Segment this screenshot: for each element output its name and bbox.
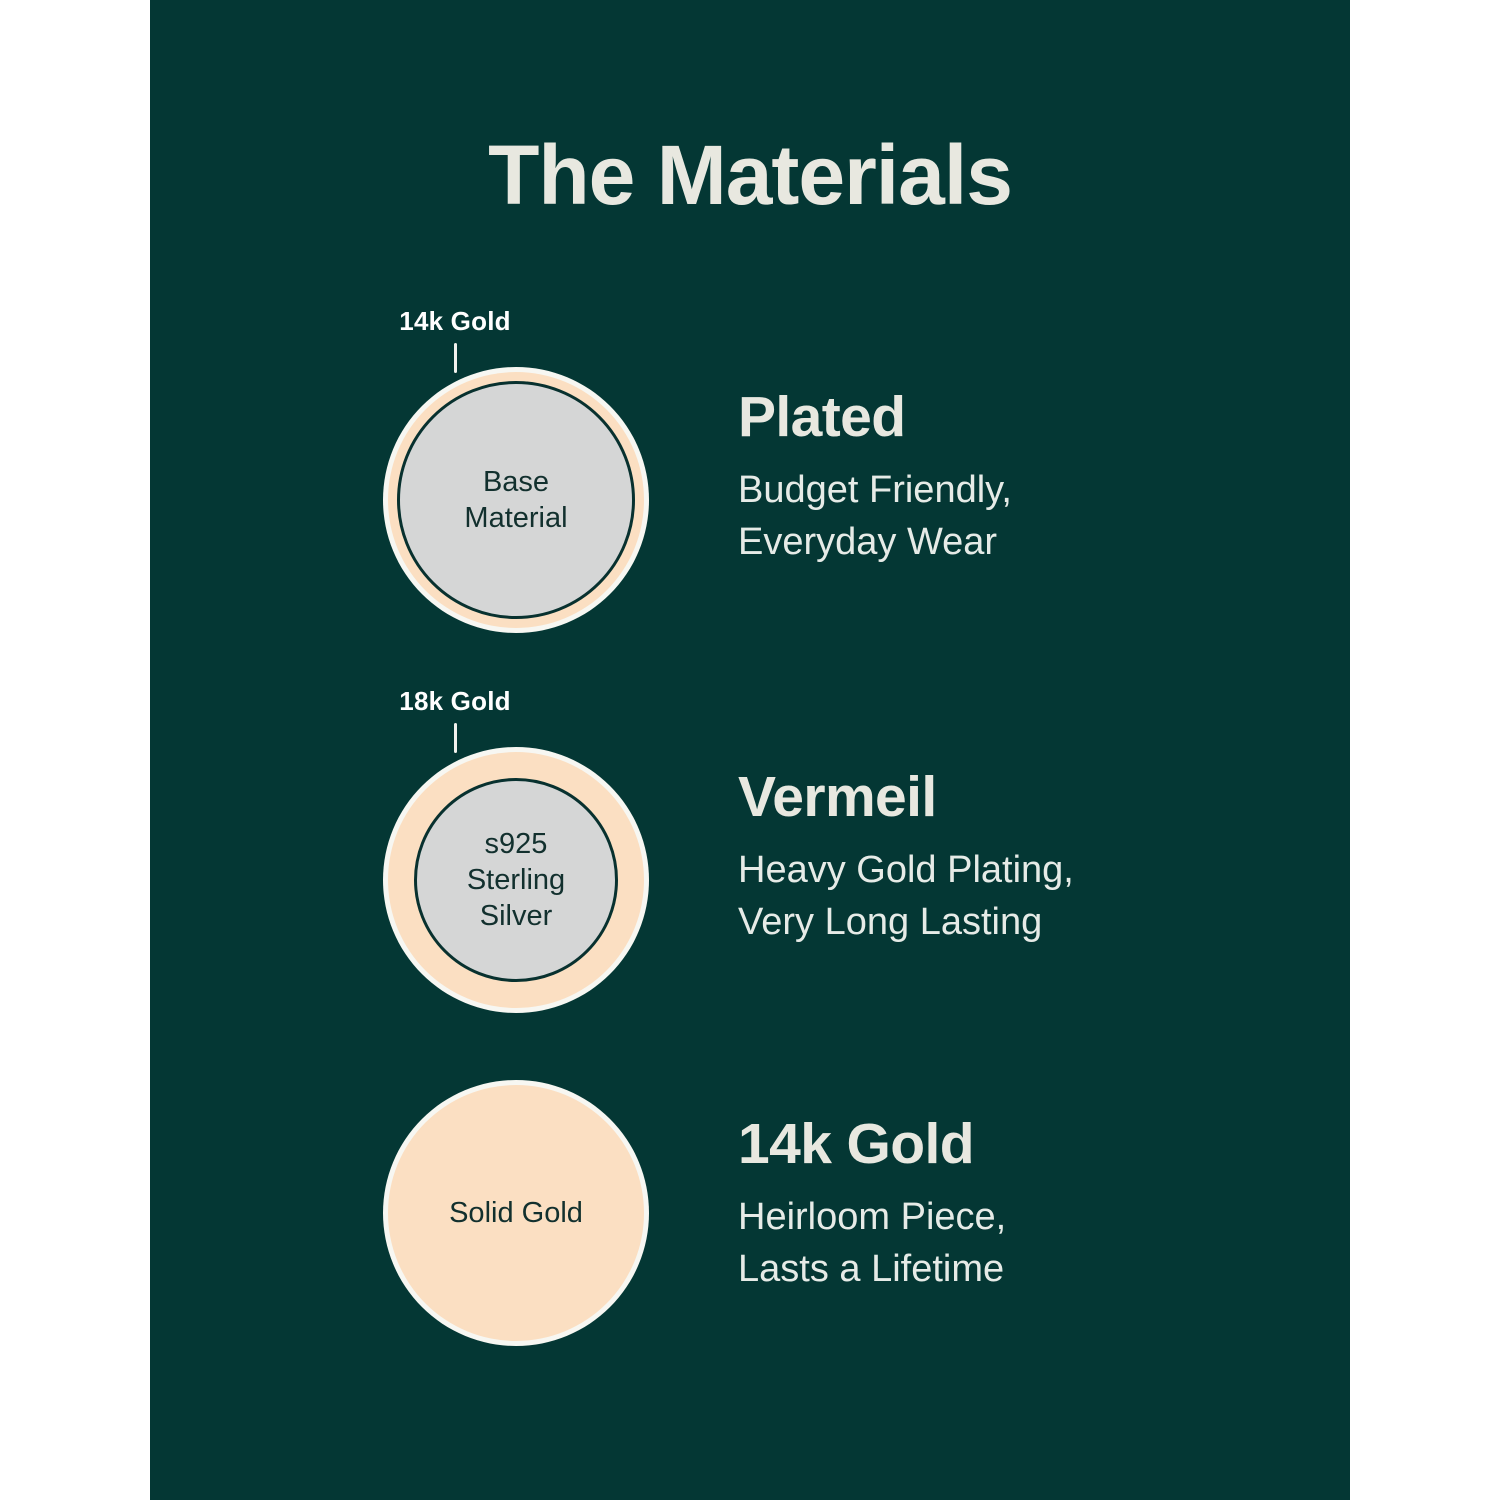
material-copy-solid-gold: 14k Gold Heirloom Piece, Lasts a Lifetim… <box>738 1115 1298 1296</box>
page-title: The Materials <box>150 133 1350 217</box>
gold-plating-layer: s925 Sterling Silver <box>388 752 644 1008</box>
material-description-vermeil: Heavy Gold Plating, Very Long Lasting <box>738 844 1298 949</box>
material-heading-plated: Plated <box>738 388 1298 448</box>
sterling-silver-layer: s925 Sterling Silver <box>414 778 618 982</box>
callout-label-vermeil: 18k Gold <box>310 686 600 717</box>
callout-plated: 14k Gold <box>310 306 600 373</box>
materials-infographic: The Materials 14k Gold Base Material Pla… <box>0 0 1500 1500</box>
base-material-layer: Base Material <box>397 381 635 619</box>
solid-gold-layer: Solid Gold <box>388 1085 644 1341</box>
callout-vermeil: 18k Gold <box>310 686 600 753</box>
material-diagram-plated: Base Material <box>388 372 644 628</box>
material-diagram-vermeil: s925 Sterling Silver <box>388 752 644 1008</box>
gold-plating-layer: Base Material <box>388 372 644 628</box>
solid-gold-label: Solid Gold <box>449 1195 583 1231</box>
material-description-plated: Budget Friendly, Everyday Wear <box>738 464 1298 569</box>
material-heading-vermeil: Vermeil <box>738 768 1298 828</box>
leader-line-icon <box>454 723 457 753</box>
material-diagram-solid-gold: Solid Gold <box>388 1085 644 1341</box>
infographic-panel: The Materials 14k Gold Base Material Pla… <box>150 0 1350 1500</box>
material-description-solid-gold: Heirloom Piece, Lasts a Lifetime <box>738 1191 1298 1296</box>
material-copy-vermeil: Vermeil Heavy Gold Plating, Very Long La… <box>738 768 1298 949</box>
sterling-silver-label: s925 Sterling Silver <box>459 826 573 935</box>
base-material-label: Base Material <box>456 464 575 537</box>
leader-line-icon <box>454 343 457 373</box>
callout-label-plated: 14k Gold <box>310 306 600 337</box>
material-copy-plated: Plated Budget Friendly, Everyday Wear <box>738 388 1298 569</box>
material-heading-solid-gold: 14k Gold <box>738 1115 1298 1175</box>
